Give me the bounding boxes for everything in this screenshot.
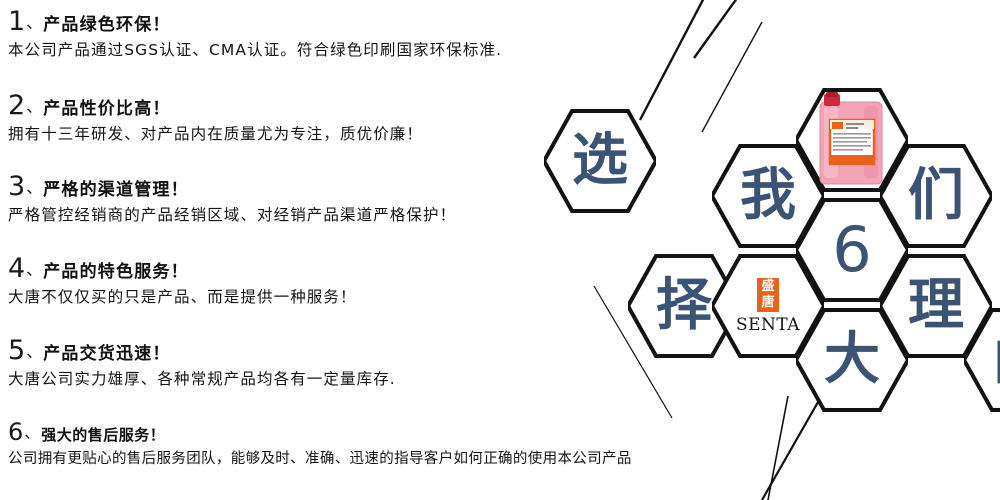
reason-separator: 、 xyxy=(26,344,42,360)
hex-label: 选 xyxy=(544,105,656,217)
promo-banner: 1 、 产品绿色环保！ 本公司产品通过SGS认证、CMA认证。符合绿色印刷国家环… xyxy=(0,0,1000,500)
reason-title: 产品绿色环保！ xyxy=(43,17,170,34)
reason-separator: 、 xyxy=(26,99,42,115)
reason-separator: 、 xyxy=(26,180,42,196)
hex-label: 由 xyxy=(964,304,1000,416)
logo-wordmark: SENTA xyxy=(736,315,800,335)
reason-number: 2 xyxy=(8,92,25,119)
reason-number: 3 xyxy=(8,173,25,200)
reason-title: 严格的渠道管理！ xyxy=(43,182,189,199)
reason-number: 5 xyxy=(8,337,25,364)
honeycomb-graphic: 选 择 我 盛 唐 SENTA xyxy=(500,80,1000,480)
hex-cell-men: 们 xyxy=(880,140,992,252)
reason-body: 本公司产品通过SGS认证、CMA认证。符合绿色印刷国家环保标准. xyxy=(8,42,648,60)
reason-number: 1 xyxy=(8,8,25,35)
reason-separator: 、 xyxy=(24,425,40,441)
logo-seal-icon: 盛 唐 xyxy=(757,278,779,312)
hex-cell-xuan: 选 xyxy=(544,105,656,217)
reason-item-1: 1 、 产品绿色环保！ 本公司产品通过SGS认证、CMA认证。符合绿色印刷国家环… xyxy=(8,8,648,60)
logo-seal-bottom: 唐 xyxy=(757,295,779,311)
reason-number: 4 xyxy=(8,255,25,282)
reason-title: 产品性价比高！ xyxy=(43,101,170,118)
reason-title: 强大的售后服务！ xyxy=(41,428,165,443)
reason-heading: 1 、 产品绿色环保！ xyxy=(8,8,648,35)
reason-title: 产品交货迅速！ xyxy=(43,346,170,363)
reason-separator: 、 xyxy=(26,15,42,31)
reason-separator: 、 xyxy=(26,262,42,278)
hex-cell-you: 由 xyxy=(964,304,1000,416)
hex-label: 们 xyxy=(880,140,992,252)
logo-seal-top: 盛 xyxy=(757,279,779,295)
product-jerrycan-icon xyxy=(818,92,884,188)
reason-title: 产品的特色服务！ xyxy=(43,264,189,281)
reason-number: 6 xyxy=(8,420,23,444)
